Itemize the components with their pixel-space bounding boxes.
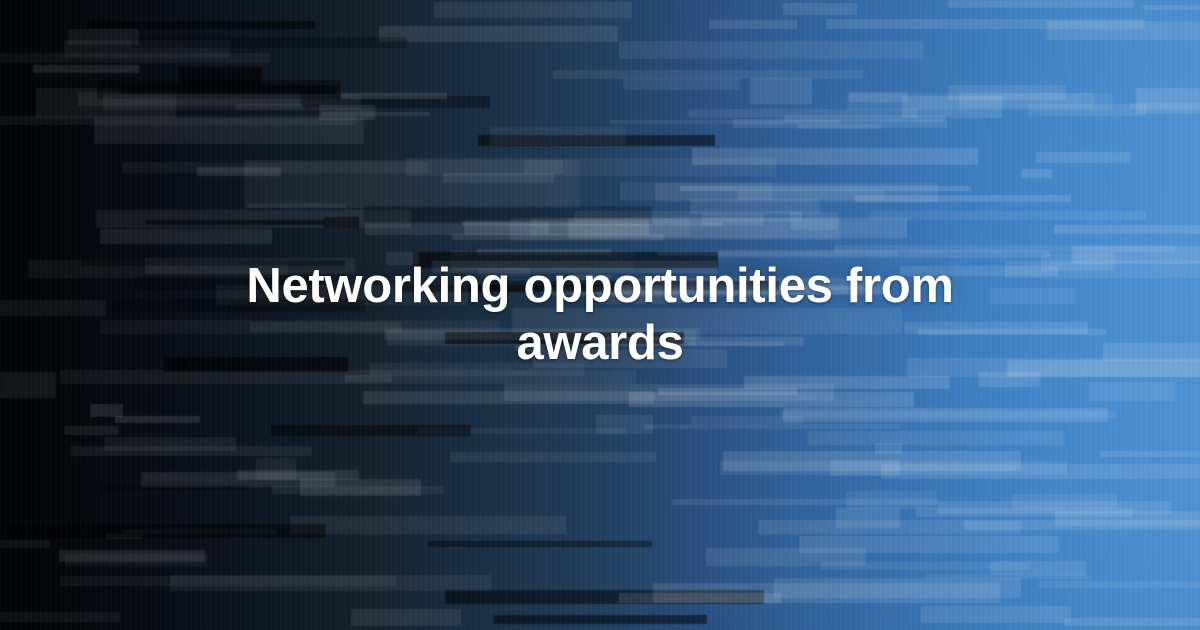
social-share-card: Networking opportunities from awards bbox=[0, 0, 1200, 630]
headline-container: Networking opportunities from awards bbox=[0, 0, 1200, 630]
page-title: Networking opportunities from awards bbox=[210, 258, 990, 373]
